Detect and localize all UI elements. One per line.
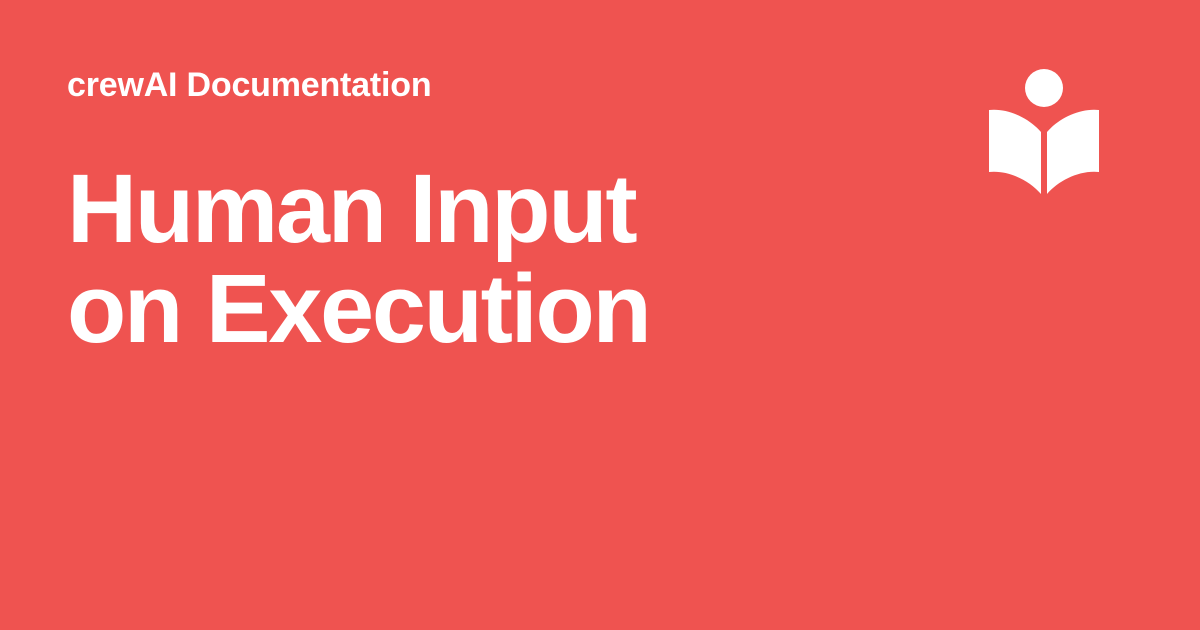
site-name-eyebrow: crewAI Documentation	[67, 63, 847, 107]
page-title: Human Input on Execution	[67, 107, 767, 359]
book-right-page-icon	[1047, 110, 1099, 194]
book-left-page-icon	[989, 110, 1041, 194]
reader-head-icon	[1025, 69, 1063, 107]
card-content: crewAI Documentation Human Input on Exec…	[67, 63, 847, 359]
open-book-reader-icon	[986, 64, 1102, 198]
og-preview-card: crewAI Documentation Human Input on Exec…	[0, 0, 1200, 630]
